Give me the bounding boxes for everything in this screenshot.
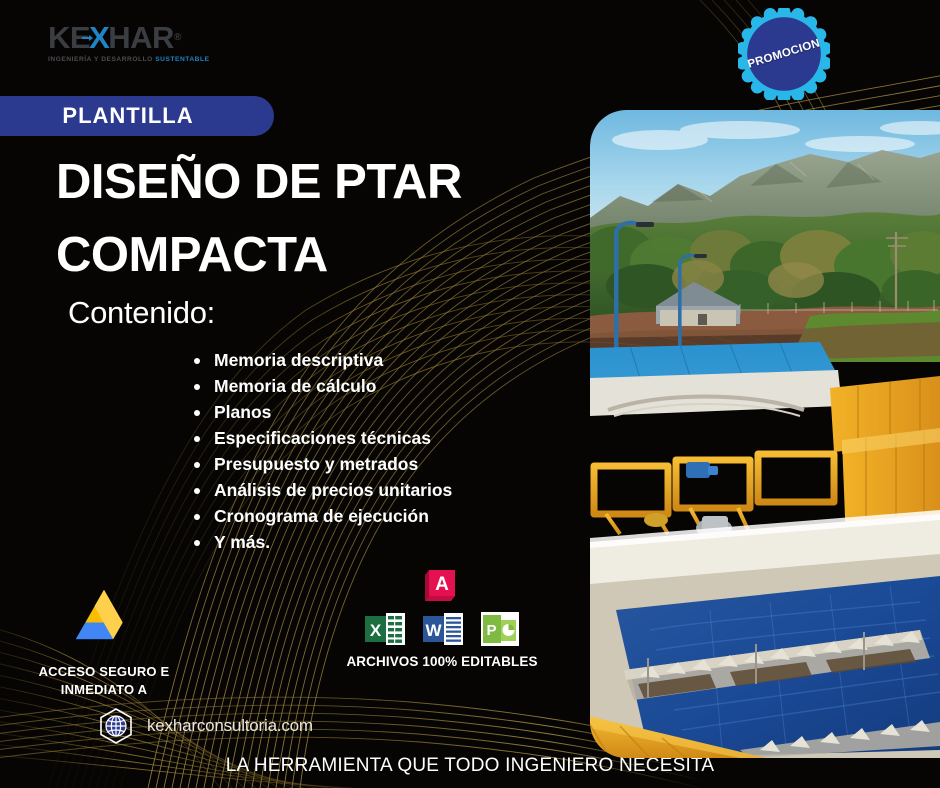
footer-tagline: LA HERRAMIENTA QUE TODO INGENIERO NECESI… [226, 755, 714, 777]
office-caption: ARCHIVOS 100% EDITABLES [344, 654, 540, 669]
title-line-1: DISEÑO DE PTAR [56, 158, 576, 207]
list-item: Especificaciones técnicas [190, 430, 452, 448]
svg-text:W: W [425, 621, 442, 640]
list-item: Y más. [190, 534, 452, 552]
promotion-badge: PROMOCION [738, 8, 830, 100]
powerpoint-icon: P [481, 612, 519, 646]
word-icon: W [423, 612, 463, 646]
registered-trademark-icon: ® [174, 33, 181, 43]
page-title: DISEÑO DE PTAR COMPACTA [56, 158, 576, 280]
logo-tagline-highlight: SUSTENTABLE [155, 56, 209, 63]
logo-arrow-icon [82, 37, 91, 39]
google-drive-icon [68, 586, 140, 650]
svg-text:X: X [370, 621, 382, 640]
globe-icon [98, 708, 134, 744]
logo-x-mark: X [89, 22, 109, 53]
list-item: Memoria descriptiva [190, 352, 452, 370]
drive-caption-line-2: INMEDIATO A [20, 681, 188, 699]
autocad-icon: A [425, 566, 459, 602]
treatment-plant-photo [590, 110, 940, 758]
plantilla-label: PLANTILLA [62, 103, 193, 129]
title-line-2: COMPACTA [56, 231, 576, 280]
list-item: Planos [190, 404, 452, 422]
photo-illustration [590, 110, 940, 758]
autocad-row: A [344, 566, 540, 602]
plantilla-banner: PLANTILLA [0, 96, 274, 136]
website-url[interactable]: kexharconsultoria.com [147, 716, 313, 736]
editable-files-block: A X [344, 566, 540, 669]
logo-tagline: INGENIERÍA Y DESARROLLO SUSTENTABLE [48, 56, 248, 63]
drive-access-block: ACCESO SEGURO E INMEDIATO A [20, 586, 188, 698]
contents-label: Contenido: [68, 295, 215, 331]
contents-list: Memoria descriptiva Memoria de cálculo P… [190, 352, 452, 560]
brand-logo: KEXHAR® INGENIERÍA Y DESARROLLO SUSTENTA… [48, 22, 248, 63]
list-item: Análisis de precios unitarios [190, 482, 452, 500]
website-row[interactable]: kexharconsultoria.com [98, 708, 313, 744]
svg-text:A: A [435, 574, 449, 595]
drive-caption: ACCESO SEGURO E INMEDIATO A [20, 663, 188, 698]
svg-text:P: P [486, 622, 496, 639]
promotional-poster: KEXHAR® INGENIERÍA Y DESARROLLO SUSTENTA… [0, 0, 940, 788]
drive-caption-line-1: ACCESO SEGURO E [20, 663, 188, 681]
office-apps-row: X W P [344, 612, 540, 646]
excel-icon: X [365, 612, 405, 646]
logo-tagline-main: INGENIERÍA Y DESARROLLO [48, 56, 155, 63]
logo-wordmark: KEXHAR® [48, 22, 248, 53]
list-item: Presupuesto y metrados [190, 456, 452, 474]
logo-text-har: HAR [108, 22, 174, 53]
list-item: Memoria de cálculo [190, 378, 452, 396]
list-item: Cronograma de ejecución [190, 508, 452, 526]
